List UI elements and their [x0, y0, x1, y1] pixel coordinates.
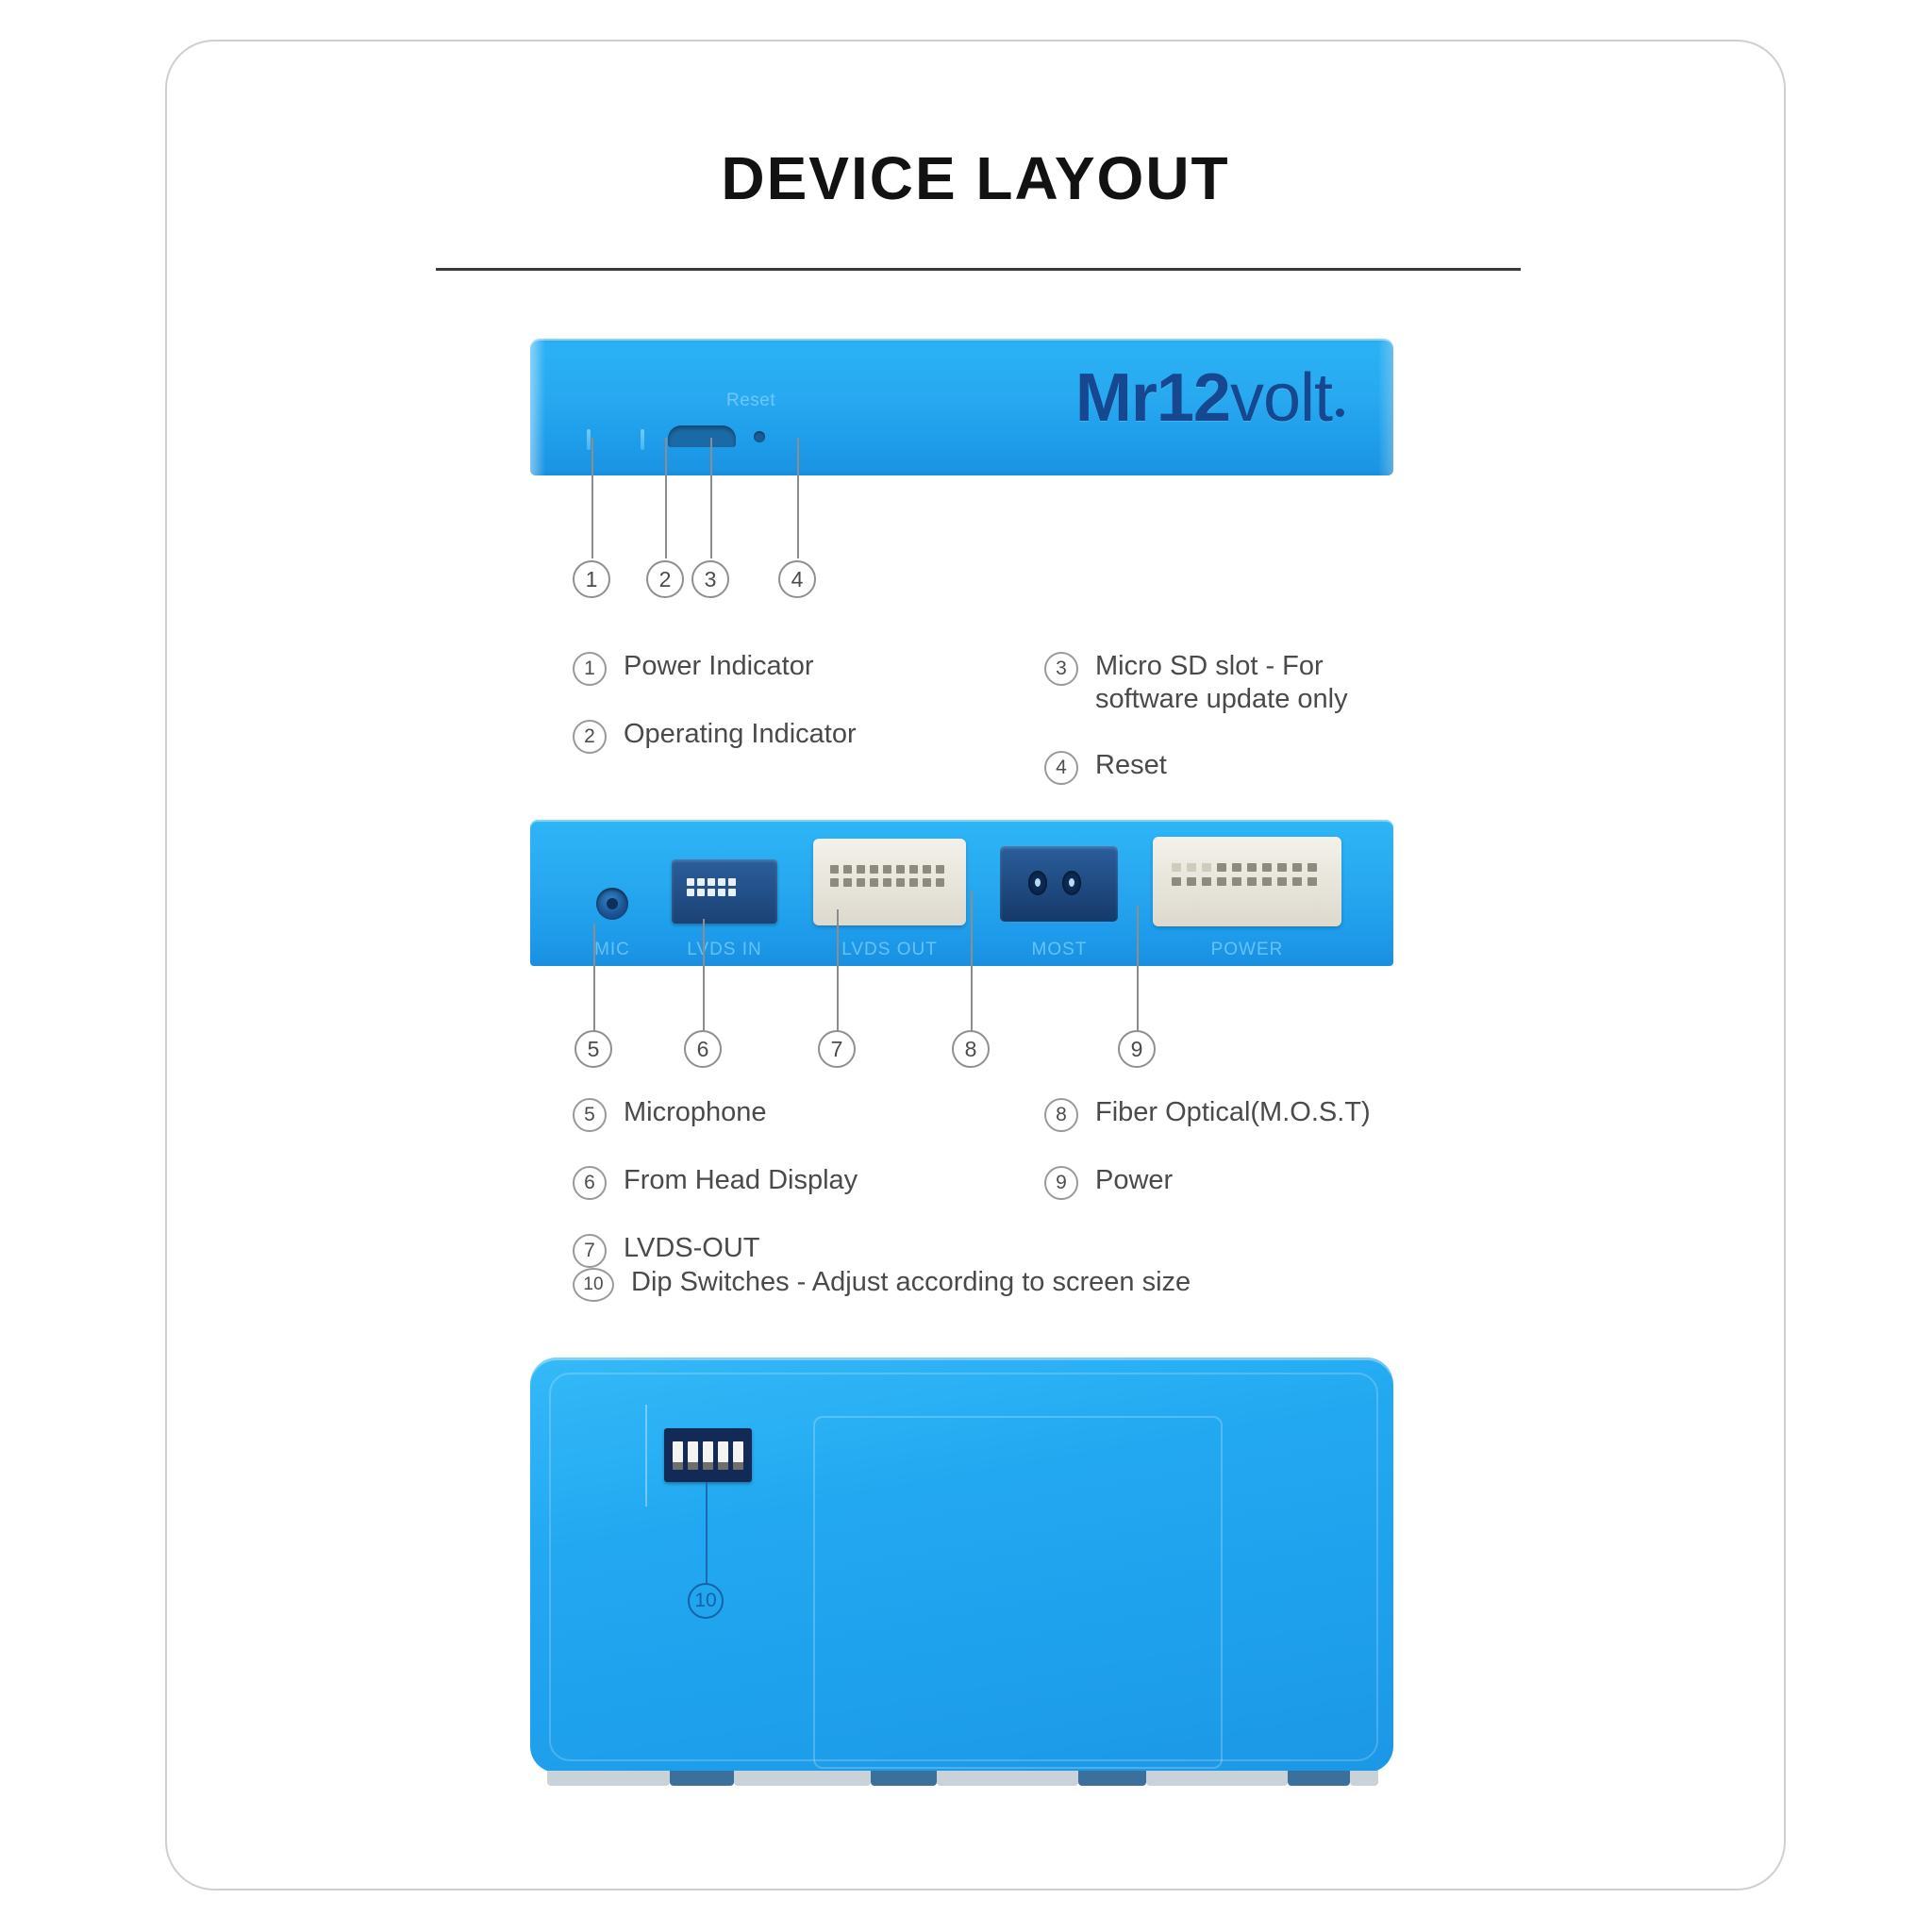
callout-line-6 — [703, 919, 705, 1032]
legend-number-2: 2 — [573, 720, 607, 754]
case-foot-2 — [670, 1771, 734, 1786]
dipswitch-guide-line — [645, 1405, 647, 1507]
callout-marker-10: 10 — [688, 1583, 724, 1619]
legend-item-8: 8 Fiber Optical(M.O.S.T) — [1044, 1096, 1497, 1132]
pin — [830, 878, 839, 887]
device-top-face: Reset Mr12volt — [530, 339, 1393, 475]
callout-marker-6: 6 — [684, 1030, 722, 1068]
most-hole-left — [1028, 871, 1047, 895]
callout-marker-3: 3 — [691, 560, 729, 598]
most-fiber-connector — [1000, 846, 1118, 922]
pin — [936, 878, 944, 887]
pin — [708, 878, 715, 886]
legend-item-3: 3 Micro SD slot - For software update on… — [1044, 650, 1497, 717]
legend-item-6: 6 From Head Display — [573, 1164, 1044, 1200]
callout-line-7 — [837, 909, 839, 1032]
dip-switch-2[interactable] — [688, 1441, 698, 1470]
pin — [909, 878, 918, 887]
mic-jack-port — [596, 888, 628, 920]
legend-label-6: From Head Display — [624, 1164, 858, 1197]
device-right-highlight — [1378, 339, 1393, 475]
brand-logo-light: volt — [1230, 360, 1332, 436]
legend-label-2: Operating Indicator — [624, 718, 857, 751]
power-pin-grid — [1172, 863, 1317, 886]
pin — [870, 878, 878, 887]
pin — [1292, 863, 1302, 872]
port-label-lvds-in: LVDS IN — [662, 940, 787, 960]
pin — [857, 865, 865, 874]
page-title: DEVICE LAYOUT — [167, 143, 1784, 213]
micro-sd-slot — [668, 425, 736, 447]
pin — [830, 865, 839, 874]
case-foot-7 — [1146, 1771, 1288, 1786]
callout-marker-8: 8 — [952, 1030, 990, 1068]
case-foot-1 — [547, 1771, 670, 1786]
legend-item-5: 5 Microphone — [573, 1096, 1044, 1132]
title-divider — [436, 268, 1521, 271]
port-label-lvds-out: LVDS OUT — [809, 940, 970, 960]
case-foot-6 — [1078, 1771, 1146, 1786]
legend-number-6: 6 — [573, 1166, 607, 1200]
pin — [1187, 863, 1196, 872]
device-bottom-case — [530, 1357, 1393, 1773]
pin — [1217, 863, 1226, 872]
callout-marker-2: 2 — [646, 560, 684, 598]
pin — [1307, 863, 1317, 872]
power-connector — [1153, 837, 1341, 926]
port-label-power: POWER — [1153, 940, 1341, 960]
callout-line-5 — [593, 924, 595, 1032]
case-foot-3 — [734, 1771, 871, 1786]
pin — [923, 865, 931, 874]
legend-label-5: Microphone — [624, 1096, 767, 1129]
lvds-out-pin-grid — [830, 865, 944, 887]
pin — [718, 889, 725, 896]
lvds-in-connector — [672, 859, 777, 924]
pin — [697, 878, 705, 886]
dip-switch-5[interactable] — [733, 1441, 743, 1470]
callout-line-3 — [710, 438, 712, 558]
operating-indicator-led — [641, 429, 644, 450]
callout-line-1 — [591, 438, 593, 558]
legend-top: 1 Power Indicator 2 Operating Indicator … — [573, 650, 1516, 817]
power-indicator-led — [587, 429, 591, 450]
pin — [1292, 877, 1302, 886]
most-hole-right — [1062, 871, 1081, 895]
pin — [718, 878, 725, 886]
pin — [1277, 863, 1287, 872]
brand-logo-dot — [1336, 408, 1344, 417]
legend-label-4: Reset — [1095, 749, 1167, 782]
pin — [843, 865, 852, 874]
callout-line-8 — [971, 891, 973, 1032]
pin — [708, 889, 715, 896]
case-foot-5 — [937, 1771, 1078, 1786]
pin — [1247, 877, 1257, 886]
case-inner-panel — [813, 1416, 1223, 1769]
pin — [1262, 877, 1272, 886]
callout-marker-7: 7 — [818, 1030, 856, 1068]
pin — [909, 865, 918, 874]
dip-switch-4[interactable] — [718, 1441, 728, 1470]
callout-line-10 — [706, 1482, 708, 1584]
pin — [1202, 863, 1211, 872]
pin — [1187, 877, 1196, 886]
legend-label-10: Dip Switches - Adjust according to scree… — [631, 1266, 1191, 1299]
pin — [883, 878, 891, 887]
pin — [1262, 863, 1272, 872]
pin — [1307, 877, 1317, 886]
callout-line-9 — [1137, 905, 1139, 1032]
callout-marker-9: 9 — [1118, 1030, 1156, 1068]
legend-number-3: 3 — [1044, 652, 1078, 686]
legend-number-8: 8 — [1044, 1098, 1078, 1132]
pin — [1172, 877, 1181, 886]
callout-line-2 — [665, 438, 667, 558]
pin — [1202, 877, 1211, 886]
pin — [843, 878, 852, 887]
callout-marker-4: 4 — [778, 560, 816, 598]
callout-marker-5: 5 — [575, 1030, 612, 1068]
pin — [728, 889, 736, 896]
legend-number-7: 7 — [573, 1234, 607, 1268]
brand-logo-bold: Mr12 — [1075, 360, 1230, 436]
document-frame: DEVICE LAYOUT Reset Mr12volt 1 2 3 4 1 P… — [165, 40, 1786, 1890]
reset-hole — [754, 431, 765, 442]
pin — [687, 889, 694, 896]
callout-marker-1: 1 — [573, 560, 610, 598]
port-label-mic: MIC — [579, 940, 645, 960]
legend-label-1: Power Indicator — [624, 650, 814, 683]
pin — [1217, 877, 1226, 886]
device-left-highlight — [530, 339, 545, 475]
legend-number-9: 9 — [1044, 1166, 1078, 1200]
case-foot-8 — [1288, 1771, 1350, 1786]
pin — [936, 865, 944, 874]
legend-number-5: 5 — [573, 1098, 607, 1132]
dip-switch-3[interactable] — [703, 1441, 713, 1470]
legend-item-4: 4 Reset — [1044, 749, 1497, 785]
legend-label-7: LVDS-OUT — [624, 1232, 759, 1265]
legend-item-7: 7 LVDS-OUT — [573, 1232, 1044, 1268]
legend-top-right-column: 3 Micro SD slot - For software update on… — [1044, 650, 1497, 817]
legend-top-left-column: 1 Power Indicator 2 Operating Indicator — [573, 650, 1044, 817]
pin — [883, 865, 891, 874]
legend-label-3: Micro SD slot - For software update only — [1095, 650, 1348, 717]
legend-item-2: 2 Operating Indicator — [573, 718, 1044, 754]
pin — [697, 889, 705, 896]
legend-item-10: 10 Dip Switches - Adjust according to sc… — [573, 1266, 1478, 1302]
pin — [896, 878, 905, 887]
lvds-in-pin-grid — [687, 878, 736, 896]
legend-label-9: Power — [1095, 1164, 1173, 1197]
pin — [1232, 863, 1241, 872]
legend-number-1: 1 — [573, 652, 607, 686]
pin — [923, 878, 931, 887]
case-foot-9 — [1350, 1771, 1378, 1786]
callout-line-4 — [797, 438, 799, 558]
legend-number-10: 10 — [573, 1268, 614, 1302]
legend-number-4: 4 — [1044, 751, 1078, 785]
dip-switch-block[interactable] — [664, 1428, 752, 1482]
legend-item-1: 1 Power Indicator — [573, 650, 1044, 686]
pin — [1247, 863, 1257, 872]
device-port-panel: MIC LVDS IN LVDS OUT MOST — [530, 820, 1393, 966]
legend-label-8: Fiber Optical(M.O.S.T) — [1095, 1096, 1371, 1129]
reset-text-label: Reset — [726, 391, 775, 411]
pin — [1277, 877, 1287, 886]
pin — [857, 878, 865, 887]
dip-switch-1[interactable] — [673, 1441, 683, 1470]
pin — [896, 865, 905, 874]
pin — [728, 878, 736, 886]
legend-item-9: 9 Power — [1044, 1164, 1497, 1200]
brand-logo: Mr12volt — [1075, 359, 1344, 437]
case-foot-4 — [871, 1771, 937, 1786]
pin — [870, 865, 878, 874]
port-label-most: MOST — [998, 940, 1121, 960]
pin — [1232, 877, 1241, 886]
pin — [687, 878, 694, 886]
pin — [1172, 863, 1181, 872]
